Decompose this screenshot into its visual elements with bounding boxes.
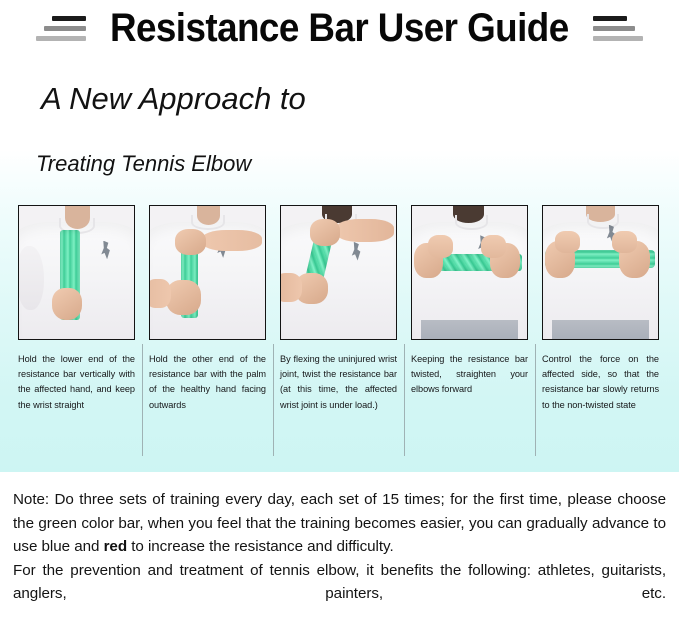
- note-paragraph-1: Note: Do three sets of training every da…: [13, 488, 666, 559]
- instruction-caption-row: Hold the lower end of the resistance bar…: [18, 352, 663, 456]
- note-paragraph-2: For the prevention and treatment of tenn…: [13, 559, 666, 627]
- step-caption-3: By flexing the uninjured wrist joint, tw…: [280, 352, 397, 456]
- step-caption-1: Hold the lower end of the resistance bar…: [18, 352, 135, 456]
- triple-bar-decoration-right-icon: [593, 16, 649, 41]
- page-header: Resistance Bar User Guide: [0, 2, 679, 54]
- note-text-part-2: to increase the resistance and difficult…: [127, 538, 394, 555]
- note-section: Note: Do three sets of training every da…: [0, 472, 679, 627]
- subtitle-line-2: Treating Tennis Elbow: [36, 150, 251, 178]
- subtitle-line-1: A New Approach to: [41, 80, 306, 118]
- note-emphasis-red: red: [104, 538, 127, 555]
- step-photo-5: [542, 205, 659, 340]
- step-caption-2: Hold the other end of the resistance bar…: [149, 352, 266, 456]
- triple-bar-decoration-left-icon: [30, 16, 86, 41]
- step-caption-4: Keeping the resistance bar twisted, stra…: [411, 352, 528, 456]
- step-caption-5: Control the force on the affected side, …: [542, 352, 659, 456]
- instruction-photo-strip: [18, 205, 663, 340]
- step-photo-2: [149, 205, 266, 340]
- step-photo-4: [411, 205, 528, 340]
- step-photo-3: [280, 205, 397, 340]
- guide-page: Resistance Bar User Guide A New Approach…: [0, 0, 679, 627]
- step-photo-1: [18, 205, 135, 340]
- page-title: Resistance Bar User Guide: [110, 6, 569, 50]
